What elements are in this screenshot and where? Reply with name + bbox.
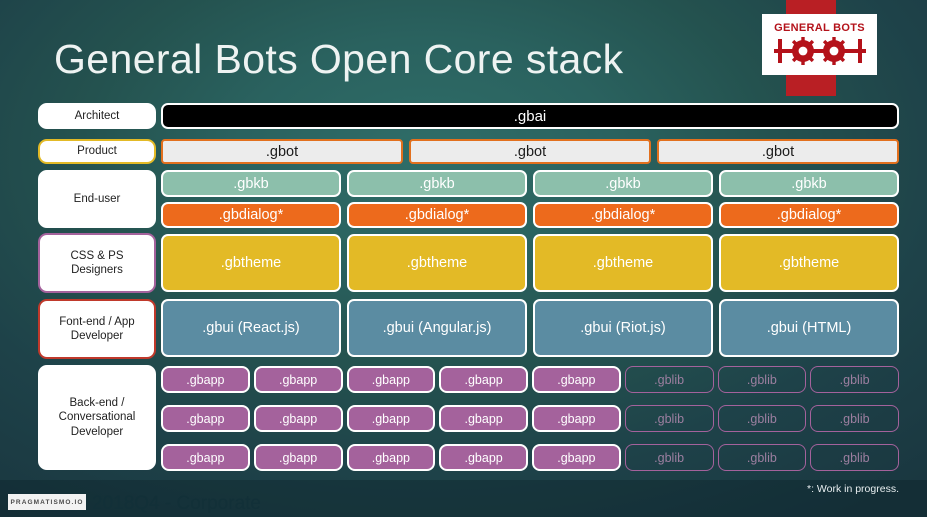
cell-gbapp-r3c1[interactable]: .gbapp	[161, 444, 250, 471]
cell-gbot-2-label: .gbot	[514, 144, 546, 160]
cell-gblib-r1c8[interactable]: .gblib	[810, 366, 899, 393]
row-label-frontend: Font-end / App Developer	[38, 299, 156, 359]
cell-gbapp-r3c3-label: .gbapp	[372, 451, 410, 465]
cell-gbtheme-2-label: .gbtheme	[407, 255, 467, 271]
pragmatismo-logo: PRAGMATISMO.IO	[8, 494, 86, 510]
row-label-product: Product	[38, 139, 156, 164]
cell-gbdialog-4-label: .gbdialog*	[777, 207, 842, 223]
cell-gbapp-r2c4[interactable]: .gbapp	[439, 405, 528, 432]
stack-diagram: ArchitectProductEnd-userCSS & PS Designe…	[0, 0, 927, 517]
slide-canvas: GENERAL BOTS	[0, 0, 927, 517]
cell-gbapp-r3c1-label: .gbapp	[186, 451, 224, 465]
cell-gbapp-r2c2-label: .gbapp	[279, 412, 317, 426]
cell-gbapp-r2c5[interactable]: .gbapp	[532, 405, 621, 432]
row-label-designers: CSS & PS Designers	[38, 233, 156, 293]
work-in-progress-note: *: Work in progress.	[807, 483, 899, 495]
cell-gbdialog-4[interactable]: .gbdialog*	[719, 202, 899, 228]
cell-gbdialog-3[interactable]: .gbdialog*	[533, 202, 713, 228]
cell-gbui-3-label: .gbui (Riot.js)	[580, 320, 665, 336]
cell-gbkb-1[interactable]: .gbkb	[161, 170, 341, 197]
cell-gblib-r3c7[interactable]: .gblib	[718, 444, 807, 471]
row-label-architect: Architect	[38, 103, 156, 129]
cell-gbtheme-2[interactable]: .gbtheme	[347, 234, 527, 292]
cell-gblib-r1c7[interactable]: .gblib	[718, 366, 807, 393]
cell-gbkb-4-label: .gbkb	[791, 176, 826, 192]
cell-gbapp-r1c1[interactable]: .gbapp	[161, 366, 250, 393]
cell-gbapp-r3c4[interactable]: .gbapp	[439, 444, 528, 471]
cell-gblib-r2c7[interactable]: .gblib	[718, 405, 807, 432]
cell-gbui-4-label: .gbui (HTML)	[767, 320, 852, 336]
cell-gbapp-r2c3[interactable]: .gbapp	[347, 405, 436, 432]
cell-gblib-r1c7-label: .gblib	[747, 373, 777, 387]
cell-gbdialog-2[interactable]: .gbdialog*	[347, 202, 527, 228]
cell-gbapp-r1c1-label: .gbapp	[186, 373, 224, 387]
cell-gblib-r1c8-label: .gblib	[840, 373, 870, 387]
cell-gbtheme-4[interactable]: .gbtheme	[719, 234, 899, 292]
cell-gbot-1[interactable]: .gbot	[161, 139, 403, 164]
cell-gbapp-r1c5-label: .gbapp	[557, 373, 595, 387]
cell-gblib-r1c6[interactable]: .gblib	[625, 366, 714, 393]
cell-gbtheme-1-label: .gbtheme	[221, 255, 281, 271]
cell-gbui-2[interactable]: .gbui (Angular.js)	[347, 299, 527, 357]
cell-gblib-r2c8[interactable]: .gblib	[810, 405, 899, 432]
cell-gbdialog-1-label: .gbdialog*	[219, 207, 284, 223]
cell-gbapp-r2c1[interactable]: .gbapp	[161, 405, 250, 432]
row-label-designers-text: CSS & PS Designers	[44, 249, 150, 278]
cell-gbdialog-2-label: .gbdialog*	[405, 207, 470, 223]
cell-gbui-4[interactable]: .gbui (HTML)	[719, 299, 899, 357]
cell-gbapp-r2c2[interactable]: .gbapp	[254, 405, 343, 432]
cell-gblib-r2c8-label: .gblib	[840, 412, 870, 426]
cell-gblib-r2c6[interactable]: .gblib	[625, 405, 714, 432]
cell-gbui-1[interactable]: .gbui (React.js)	[161, 299, 341, 357]
row-label-backend: Back-end / Conversational Developer	[38, 365, 156, 470]
cell-gbtheme-4-label: .gbtheme	[779, 255, 839, 271]
row-label-end-user: End-user	[38, 170, 156, 228]
cell-gbot-3-label: .gbot	[762, 144, 794, 160]
row-label-architect-text: Architect	[75, 109, 120, 123]
cell-gbkb-3-label: .gbkb	[605, 176, 640, 192]
cell-gbapp-r1c5[interactable]: .gbapp	[532, 366, 621, 393]
cell-gbdialog-1[interactable]: .gbdialog*	[161, 202, 341, 228]
cell-gbapp-r1c3[interactable]: .gbapp	[347, 366, 436, 393]
cell-gbapp-r1c3-label: .gbapp	[372, 373, 410, 387]
cell-gbai[interactable]: .gbai	[161, 103, 899, 129]
cell-gbkb-3[interactable]: .gbkb	[533, 170, 713, 197]
cell-gbtheme-1[interactable]: .gbtheme	[161, 234, 341, 292]
cell-gbapp-r2c1-label: .gbapp	[186, 412, 224, 426]
cell-gbui-2-label: .gbui (Angular.js)	[383, 320, 492, 336]
cell-gbkb-1-label: .gbkb	[233, 176, 268, 192]
cell-gbapp-r1c2-label: .gbapp	[279, 373, 317, 387]
cell-gbapp-r1c4[interactable]: .gbapp	[439, 366, 528, 393]
cell-gblib-r2c7-label: .gblib	[747, 412, 777, 426]
cell-gbot-3[interactable]: .gbot	[657, 139, 899, 164]
cell-gbapp-r2c4-label: .gbapp	[465, 412, 503, 426]
cell-gbapp-r2c3-label: .gbapp	[372, 412, 410, 426]
cell-gbapp-r3c5[interactable]: .gbapp	[532, 444, 621, 471]
cell-gbapp-r2c5-label: .gbapp	[557, 412, 595, 426]
cell-gblib-r3c8[interactable]: .gblib	[810, 444, 899, 471]
cell-gbapp-r1c2[interactable]: .gbapp	[254, 366, 343, 393]
cell-gbdialog-3-label: .gbdialog*	[591, 207, 656, 223]
row-label-end-user-text: End-user	[74, 192, 121, 206]
cell-gbkb-4[interactable]: .gbkb	[719, 170, 899, 197]
row-label-product-text: Product	[77, 144, 117, 158]
cell-gbapp-r3c2[interactable]: .gbapp	[254, 444, 343, 471]
row-label-backend-text: Back-end / Conversational Developer	[44, 396, 150, 439]
cell-gbapp-r3c4-label: .gbapp	[465, 451, 503, 465]
cell-gbapp-r3c2-label: .gbapp	[279, 451, 317, 465]
cell-gbot-2[interactable]: .gbot	[409, 139, 651, 164]
cell-gblib-r3c6-label: .gblib	[654, 451, 684, 465]
cell-gblib-r3c6[interactable]: .gblib	[625, 444, 714, 471]
footer-label: 2018Q4 - Corporate	[92, 493, 261, 515]
cell-gbtheme-3-label: .gbtheme	[593, 255, 653, 271]
cell-gbai-label: .gbai	[514, 108, 547, 125]
cell-gbapp-r3c3[interactable]: .gbapp	[347, 444, 436, 471]
cell-gbtheme-3[interactable]: .gbtheme	[533, 234, 713, 292]
cell-gbkb-2[interactable]: .gbkb	[347, 170, 527, 197]
cell-gbot-1-label: .gbot	[266, 144, 298, 160]
cell-gbapp-r1c4-label: .gbapp	[465, 373, 503, 387]
cell-gbui-1-label: .gbui (React.js)	[202, 320, 300, 336]
cell-gblib-r1c6-label: .gblib	[654, 373, 684, 387]
cell-gblib-r2c6-label: .gblib	[654, 412, 684, 426]
cell-gbapp-r3c5-label: .gbapp	[557, 451, 595, 465]
row-label-frontend-text: Font-end / App Developer	[44, 315, 150, 344]
cell-gbui-3[interactable]: .gbui (Riot.js)	[533, 299, 713, 357]
cell-gblib-r3c8-label: .gblib	[840, 451, 870, 465]
cell-gbkb-2-label: .gbkb	[419, 176, 454, 192]
cell-gblib-r3c7-label: .gblib	[747, 451, 777, 465]
